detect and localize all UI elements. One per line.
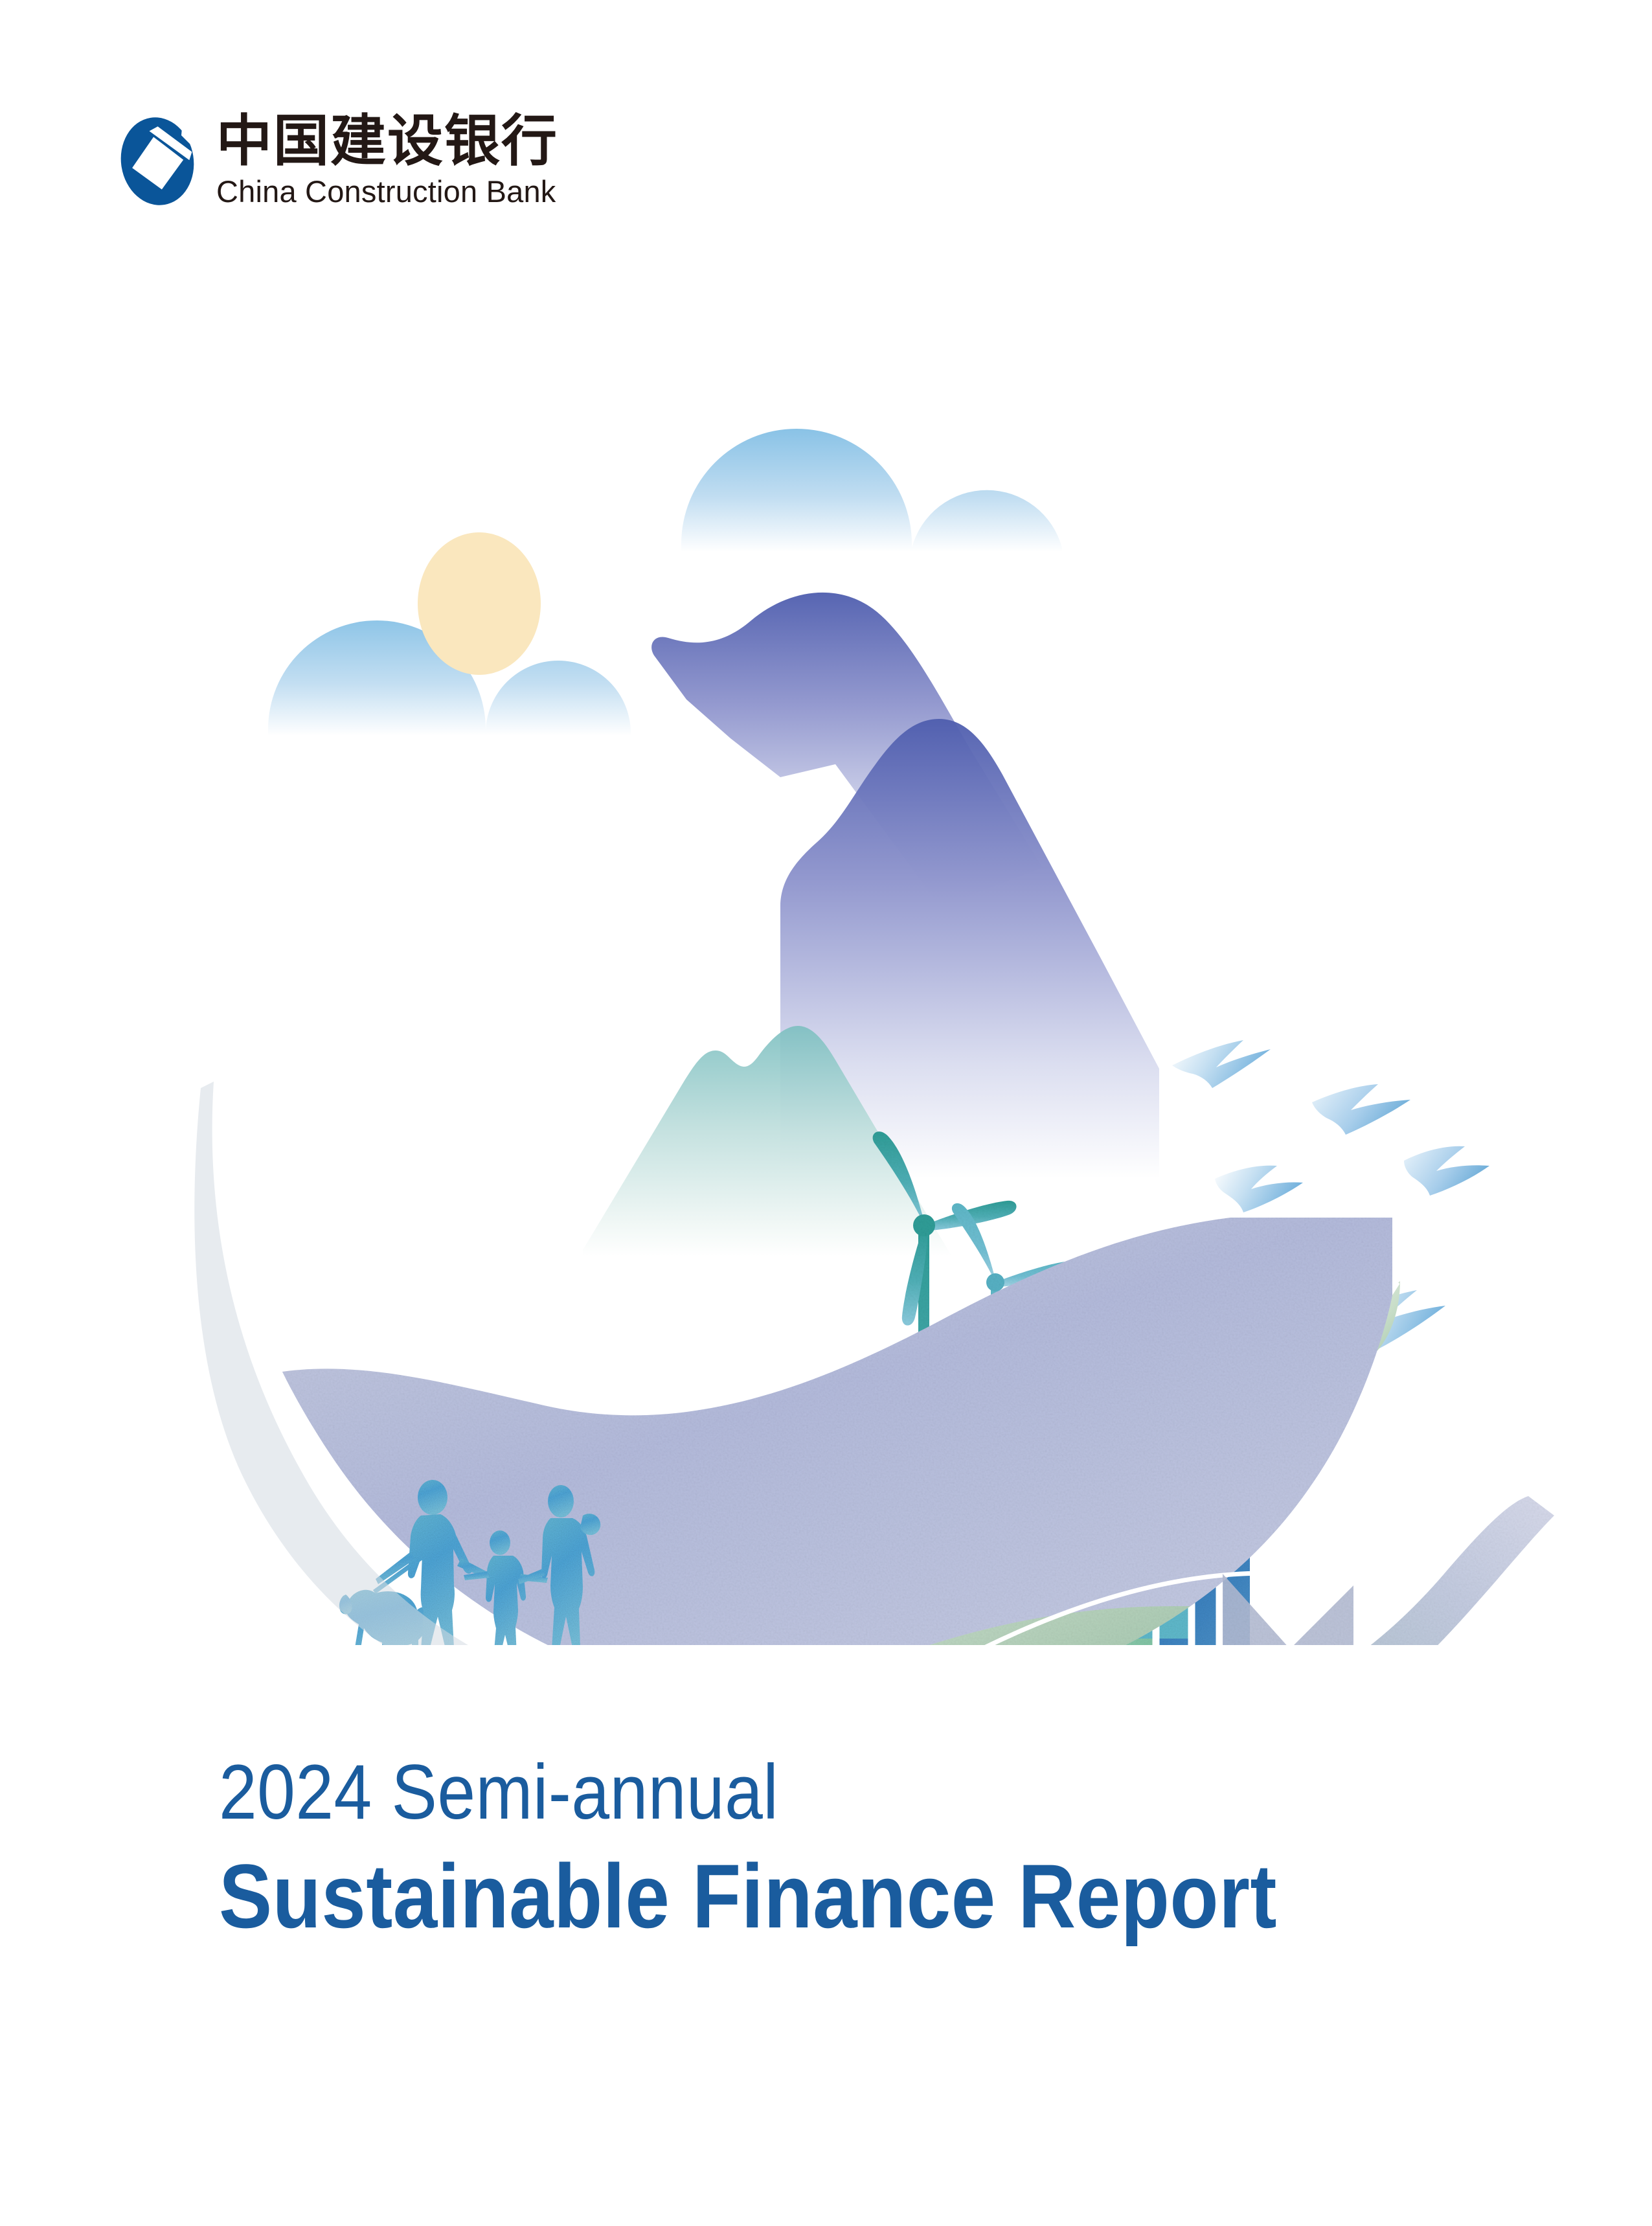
bird-icon	[1404, 1146, 1489, 1196]
report-cover-page: 中国建设银行 China Construction Bank	[0, 0, 1652, 2226]
brand-logo: 中国建设银行 China Construction Bank	[117, 113, 558, 209]
bird-icon	[1312, 1084, 1410, 1135]
brand-name-english: China Construction Bank	[216, 174, 558, 209]
sun-icon	[418, 532, 541, 675]
cloud-top-icon	[681, 429, 1070, 554]
bird-icon	[1215, 1166, 1303, 1212]
report-title: Sustainable Finance Report	[219, 1845, 1302, 1948]
brand-wordmark: 中国建设银行 China Construction Bank	[216, 113, 558, 209]
cover-illustration	[0, 415, 1652, 1645]
report-year-period: 2024 Semi-annual	[219, 1749, 1302, 1835]
bird-icon	[1172, 1040, 1271, 1088]
ccb-logo-icon	[117, 113, 198, 209]
cover-title: 2024 Semi-annual Sustainable Finance Rep…	[219, 1749, 1449, 1948]
brand-name-chinese: 中国建设银行	[216, 113, 558, 170]
